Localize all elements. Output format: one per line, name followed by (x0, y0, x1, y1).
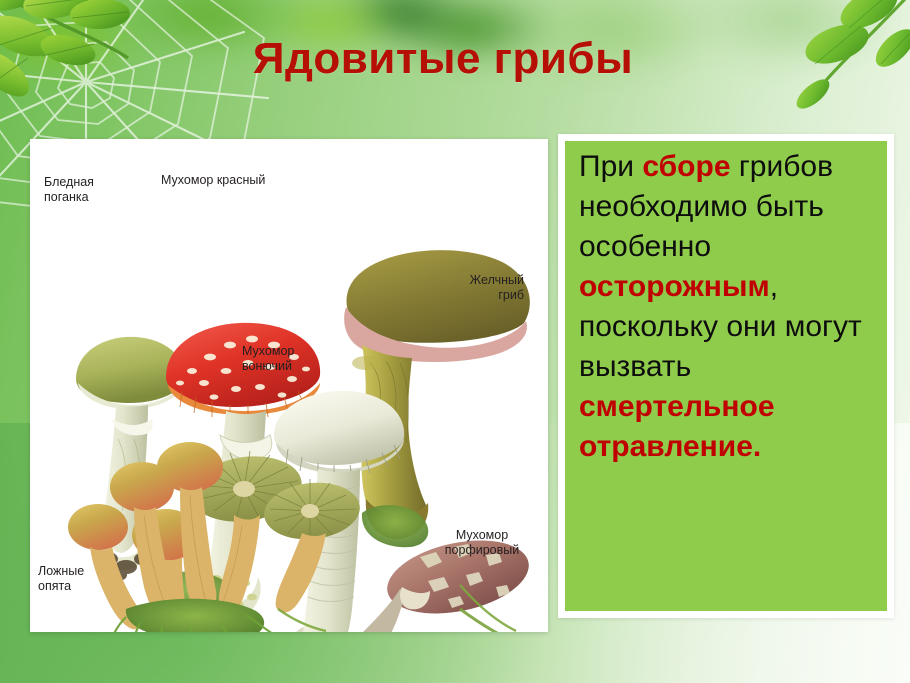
plate-label-bile-mushroom: Желчный гриб (430, 273, 524, 303)
plate-label-porphyry-amanita: Мухомор порфировый (430, 528, 534, 558)
warning-text-highlight: осторожным (579, 270, 770, 303)
warning-text-highlight: смертельное отравление. (579, 390, 775, 463)
plate-label-false-honey: Ложные опята (38, 564, 84, 594)
mushroom-plate-illustration (30, 139, 548, 632)
plate-label-stinking-amanita: Мухомор вонючий (242, 344, 294, 374)
plate-label-pale-toadstool: Бледная поганка (44, 175, 94, 205)
slide: Ядовитые грибы (0, 0, 910, 683)
slide-title: Ядовитые грибы (0, 34, 910, 84)
warning-text: При сборе грибов необходимо быть особенн… (579, 147, 879, 467)
plate-label-red-fly-agaric: Мухомор красный (161, 173, 265, 188)
mushroom-plate-panel: Бледная поганка Мухомор красный Желчный … (30, 139, 548, 632)
slide-title-text: Ядовитые грибы (253, 34, 633, 84)
warning-textbox: При сборе грибов необходимо быть особенн… (558, 134, 894, 618)
warning-textbox-fill: При сборе грибов необходимо быть особенн… (565, 141, 887, 611)
warning-text-segment: При (579, 150, 642, 183)
warning-text-highlight: сборе (642, 150, 730, 183)
